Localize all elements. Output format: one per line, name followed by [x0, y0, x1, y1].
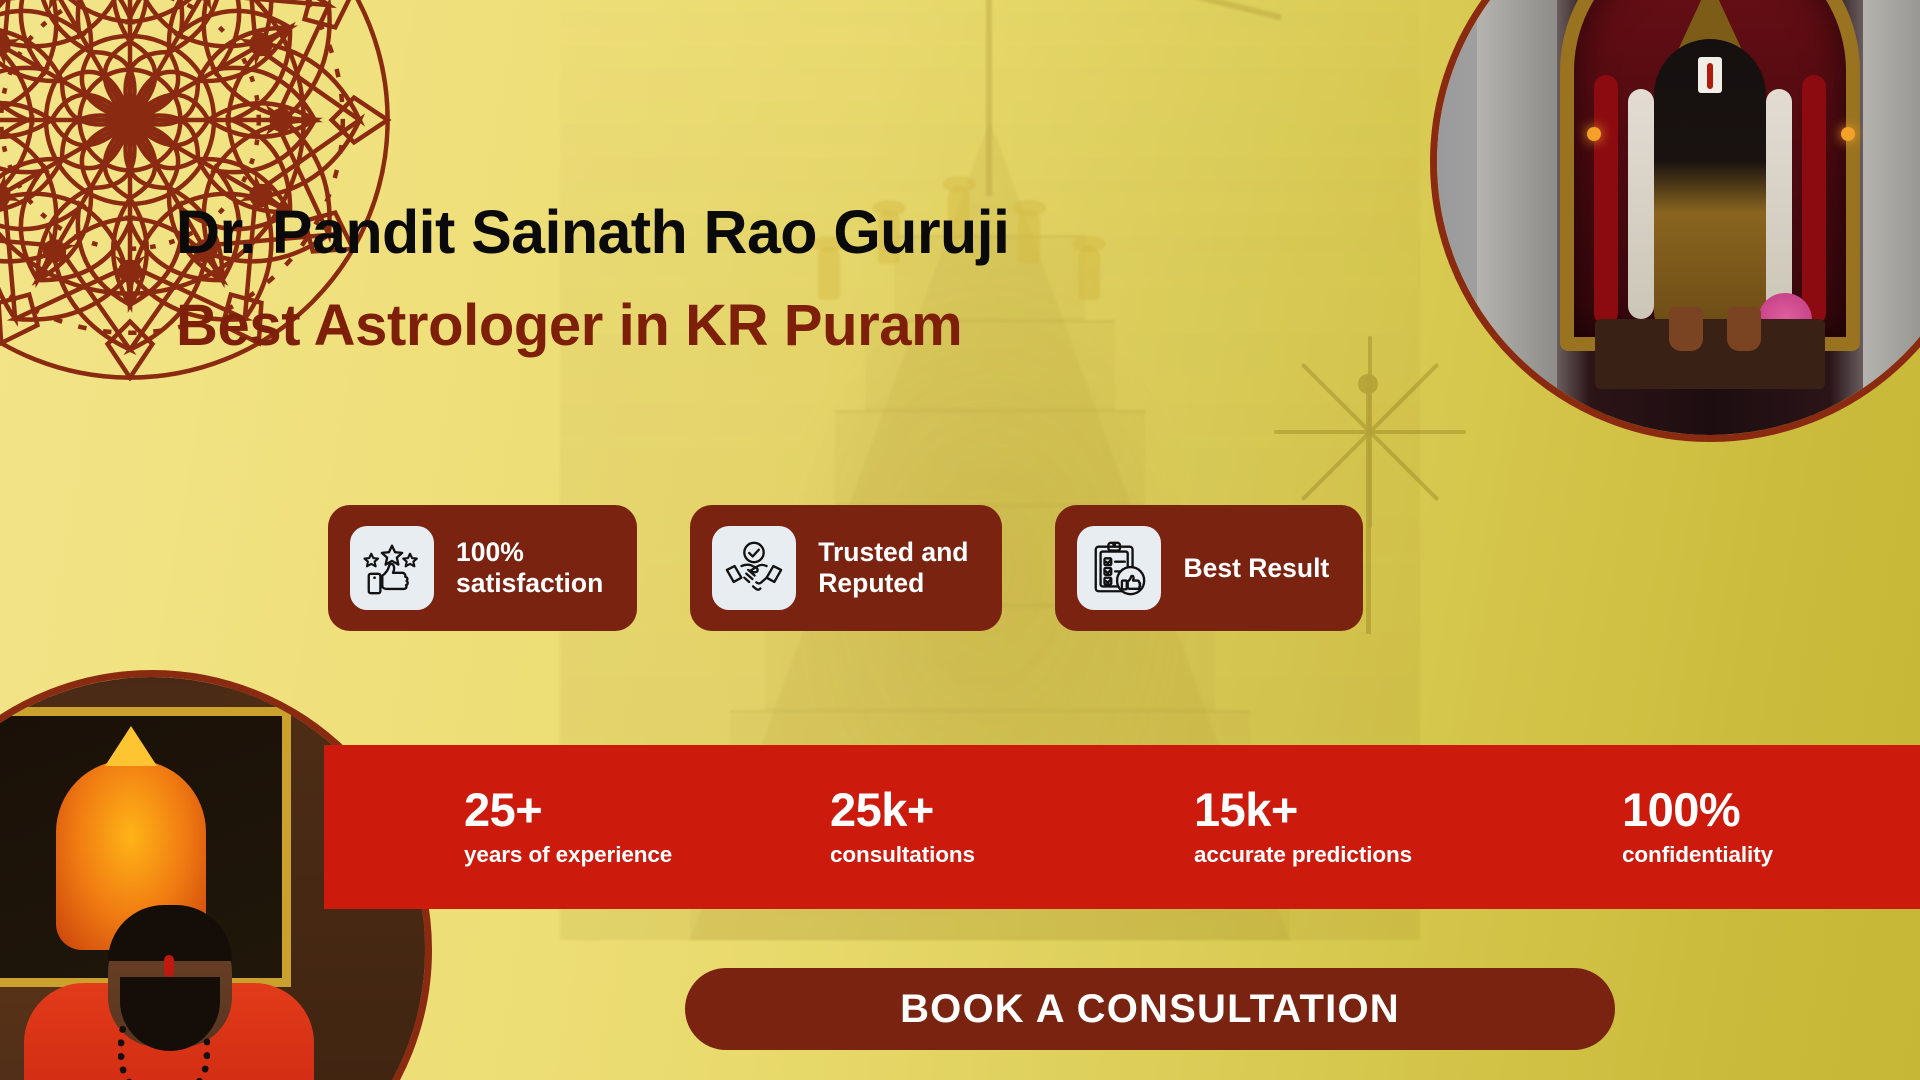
- stat-confidentiality: 100% confidentiality: [1492, 786, 1920, 868]
- title-block: Dr. Pandit Sainath Rao Guruji Best Astro…: [176, 202, 1009, 355]
- clipboard-thumbs-up-icon: [1077, 526, 1161, 610]
- stat-accurate-predictions: 15k+ accurate predictions: [1128, 786, 1492, 868]
- stat-label: accurate predictions: [1194, 842, 1492, 868]
- stat-value: 15k+: [1194, 786, 1492, 833]
- badge-trusted[interactable]: Trusted and Reputed: [690, 505, 1002, 631]
- stat-value: 25k+: [830, 786, 1128, 833]
- badge-satisfaction[interactable]: 100% satisfaction: [328, 505, 637, 631]
- deity-photo-content: [1437, 0, 1920, 435]
- badge-line1: 100%: [456, 537, 603, 568]
- badge-line1: Trusted and: [818, 537, 968, 568]
- badge-best-result-text: Best Result: [1183, 553, 1329, 584]
- feature-badges: 100% satisfaction Trusted an: [328, 505, 1363, 631]
- temple-deity-photo: [1430, 0, 1920, 442]
- stat-value: 100%: [1622, 786, 1920, 833]
- stat-label: confidentiality: [1622, 842, 1920, 868]
- stat-label: consultations: [830, 842, 1128, 868]
- stat-consultations: 25k+ consultations: [762, 786, 1128, 868]
- badge-best-result[interactable]: Best Result: [1055, 505, 1363, 631]
- thumbs-up-stars-icon: [350, 526, 434, 610]
- badge-satisfaction-text: 100% satisfaction: [456, 537, 603, 598]
- book-consultation-button[interactable]: BOOK A CONSULTATION: [685, 968, 1615, 1050]
- page-title: Dr. Pandit Sainath Rao Guruji: [176, 202, 1009, 263]
- stats-strip: 25+ years of experience 25k+ consultatio…: [324, 745, 1920, 909]
- stat-years-experience: 25+ years of experience: [324, 786, 762, 868]
- page-subtitle: Best Astrologer in KR Puram: [176, 297, 1009, 355]
- stat-value: 25+: [464, 786, 762, 833]
- handshake-check-icon: [712, 526, 796, 610]
- stat-label: years of experience: [464, 842, 762, 868]
- badge-trusted-text: Trusted and Reputed: [818, 537, 968, 598]
- badge-line1: Best Result: [1183, 553, 1329, 584]
- banner-root: Dr. Pandit Sainath Rao Guruji Best Astro…: [0, 0, 1920, 1080]
- badge-line2: satisfaction: [456, 568, 603, 599]
- badge-line2: Reputed: [818, 568, 968, 599]
